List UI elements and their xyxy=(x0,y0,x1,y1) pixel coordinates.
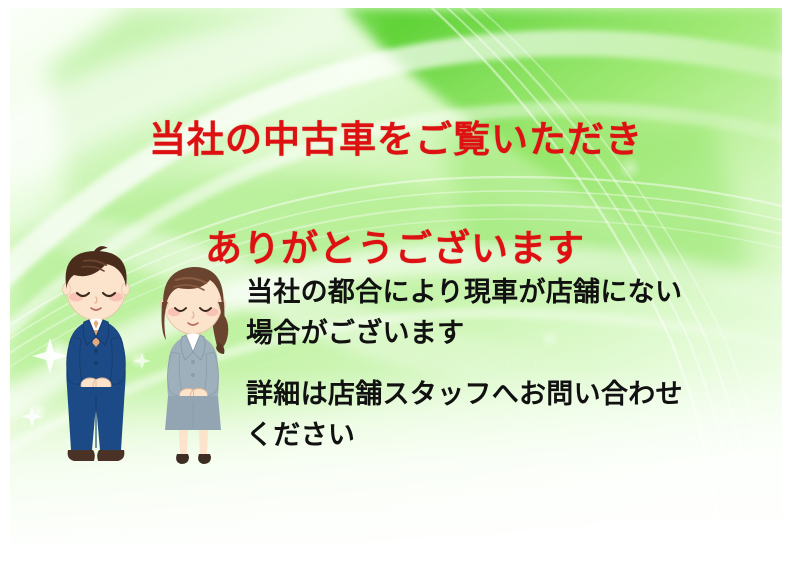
body-paragraph-1-line-2: 場合がございます xyxy=(246,313,746,354)
body-paragraph-2-line-2: ください xyxy=(246,415,746,456)
body-paragraph-1-line-1: 当社の都合により現車が店舗にない xyxy=(246,272,746,313)
bowing-businesswoman-illustration xyxy=(148,262,240,470)
body-paragraph-2: 詳細は店舗スタッフへお問い合わせ ください xyxy=(246,374,746,456)
bowing-businessman-illustration xyxy=(48,245,144,470)
body-copy: 当社の都合により現車が店舗にない 場合がございます 詳細は店舗スタッフへお問い合… xyxy=(246,272,746,456)
body-paragraph-1: 当社の都合により現車が店舗にない 場合がございます xyxy=(246,272,746,354)
headline-line-1: 当社の中古車をご覧いただき xyxy=(0,113,800,168)
body-paragraph-2-line-1: 詳細は店舗スタッフへお問い合わせ xyxy=(246,374,746,415)
poster-canvas: 当社の中古車をご覧いただき ありがとうございます 当社の都合により現車が店舗にな… xyxy=(0,0,800,565)
